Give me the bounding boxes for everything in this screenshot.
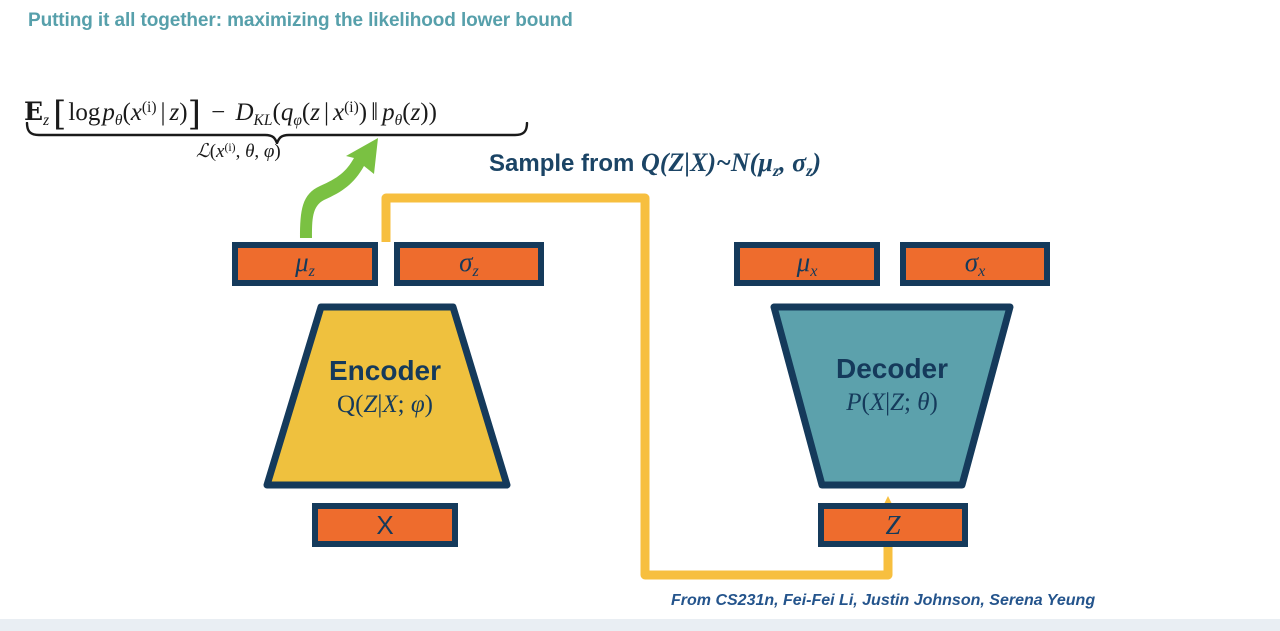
sample-from-prefix: Sample from — [489, 150, 641, 177]
slide-canvas: Putting it all together: maximizing the … — [0, 0, 1280, 631]
decoder-trapezoid-icon — [766, 303, 1018, 489]
decoder-shape[interactable]: Decoder P(X|Z; θ) — [766, 303, 1018, 489]
script-l-symbol: ℒ — [196, 140, 210, 162]
input-x-box[interactable]: X — [312, 503, 458, 547]
sample-from-math: Q(Z|X)~N(μz, σz) — [641, 148, 821, 177]
mu-x-label: μx — [797, 249, 818, 279]
input-x-label: X — [376, 512, 393, 538]
source-credit: From CS231n, Fei-Fei Li, Justin Johnson,… — [671, 592, 1095, 610]
sigma-z-label: σz — [459, 249, 479, 279]
mu-x-box[interactable]: μx — [734, 242, 880, 286]
latent-z-box[interactable]: Z — [818, 503, 968, 547]
sigma-z-box[interactable]: σz — [394, 242, 544, 286]
encoder-trapezoid-icon — [259, 303, 511, 489]
page-title: Putting it all together: maximizing the … — [28, 10, 573, 32]
encoder-shape[interactable]: Encoder Q(Z|X; φ) — [259, 303, 511, 489]
sigma-x-box[interactable]: σx — [900, 242, 1050, 286]
latent-z-label: Z — [885, 512, 900, 539]
mu-z-box[interactable]: μz — [232, 242, 378, 286]
mu-z-label: μz — [295, 249, 315, 279]
bottom-band — [0, 619, 1280, 631]
sigma-x-label: σx — [965, 249, 986, 279]
x-superscript: (i) — [142, 99, 157, 116]
elbo-label: ℒ(x(i), θ, φ) — [196, 140, 281, 163]
sample-from-caption: Sample from Q(Z|X)~N(μz, σz) — [489, 148, 821, 181]
